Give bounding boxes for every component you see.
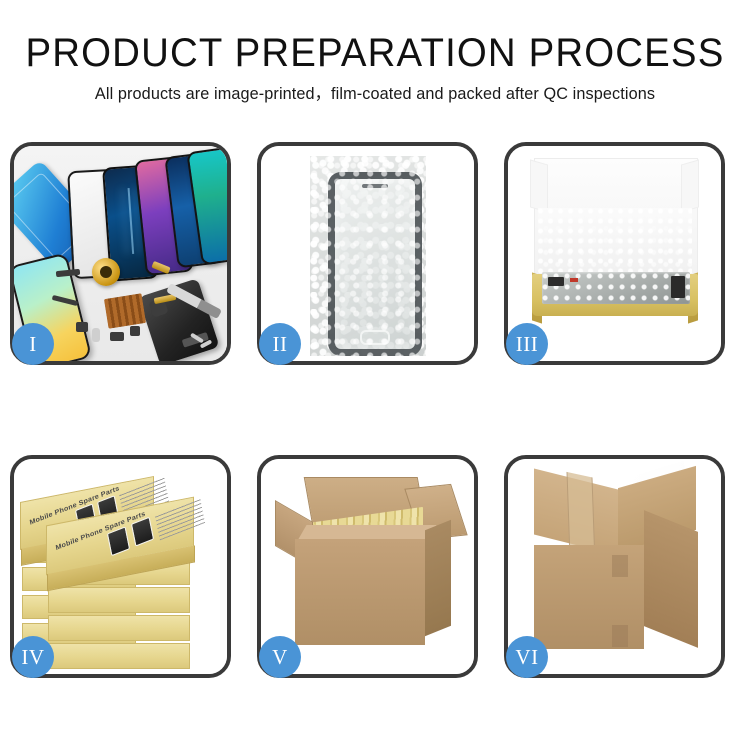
step-panel-3[interactable]: III (504, 142, 725, 365)
box-spec-lines (155, 498, 205, 540)
step-panel-6[interactable]: VI (504, 455, 725, 678)
wrapped-screen-in-box (542, 272, 690, 304)
box-flap-left (530, 159, 548, 212)
step-badge-4: IV (12, 636, 54, 678)
box-stack: Mobile Phone Spare Parts Mobile Phone Sp… (18, 467, 223, 667)
carton-cut-tab (612, 555, 628, 577)
carton-side-face (425, 520, 451, 637)
step-panel-5[interactable]: V (257, 455, 478, 678)
page-header: PRODUCT PREPARATION PROCESS All products… (0, 0, 750, 105)
stacked-box (48, 587, 190, 613)
step-badge-6: VI (506, 636, 548, 678)
small-part-icon (92, 328, 100, 342)
carton-cut-tab (612, 625, 628, 647)
bubble-wrap-photo (310, 156, 426, 356)
small-part-icon (130, 326, 140, 336)
step-badge-2: II (259, 323, 301, 365)
page-subtitle: All products are image-printed，film-coat… (6, 83, 745, 105)
step-badge-3: III (506, 323, 548, 365)
step-badge-5: V (259, 636, 301, 678)
step-panel-2[interactable]: II (257, 142, 478, 365)
box-flap-right (681, 159, 699, 212)
chip-array-icon (104, 293, 146, 329)
red-marker-icon (570, 278, 578, 282)
process-steps-grid: I II III (10, 142, 740, 678)
step-panel-1[interactable]: I (10, 142, 231, 365)
carton-side-face (644, 510, 698, 648)
gold-coil-icon (92, 258, 120, 286)
foam-padding (538, 208, 692, 276)
stacked-box (48, 615, 190, 641)
carton-front-face (295, 539, 425, 645)
stacked-box (48, 643, 190, 669)
small-part-icon (110, 332, 124, 341)
page-title: PRODUCT PREPARATION PROCESS (15, 30, 735, 76)
step-panel-4[interactable]: Mobile Phone Spare Parts Mobile Phone Sp… (10, 455, 231, 678)
small-part-icon (76, 322, 88, 332)
bubble-texture-overlay (310, 156, 426, 356)
step-badge-1: I (12, 323, 54, 365)
